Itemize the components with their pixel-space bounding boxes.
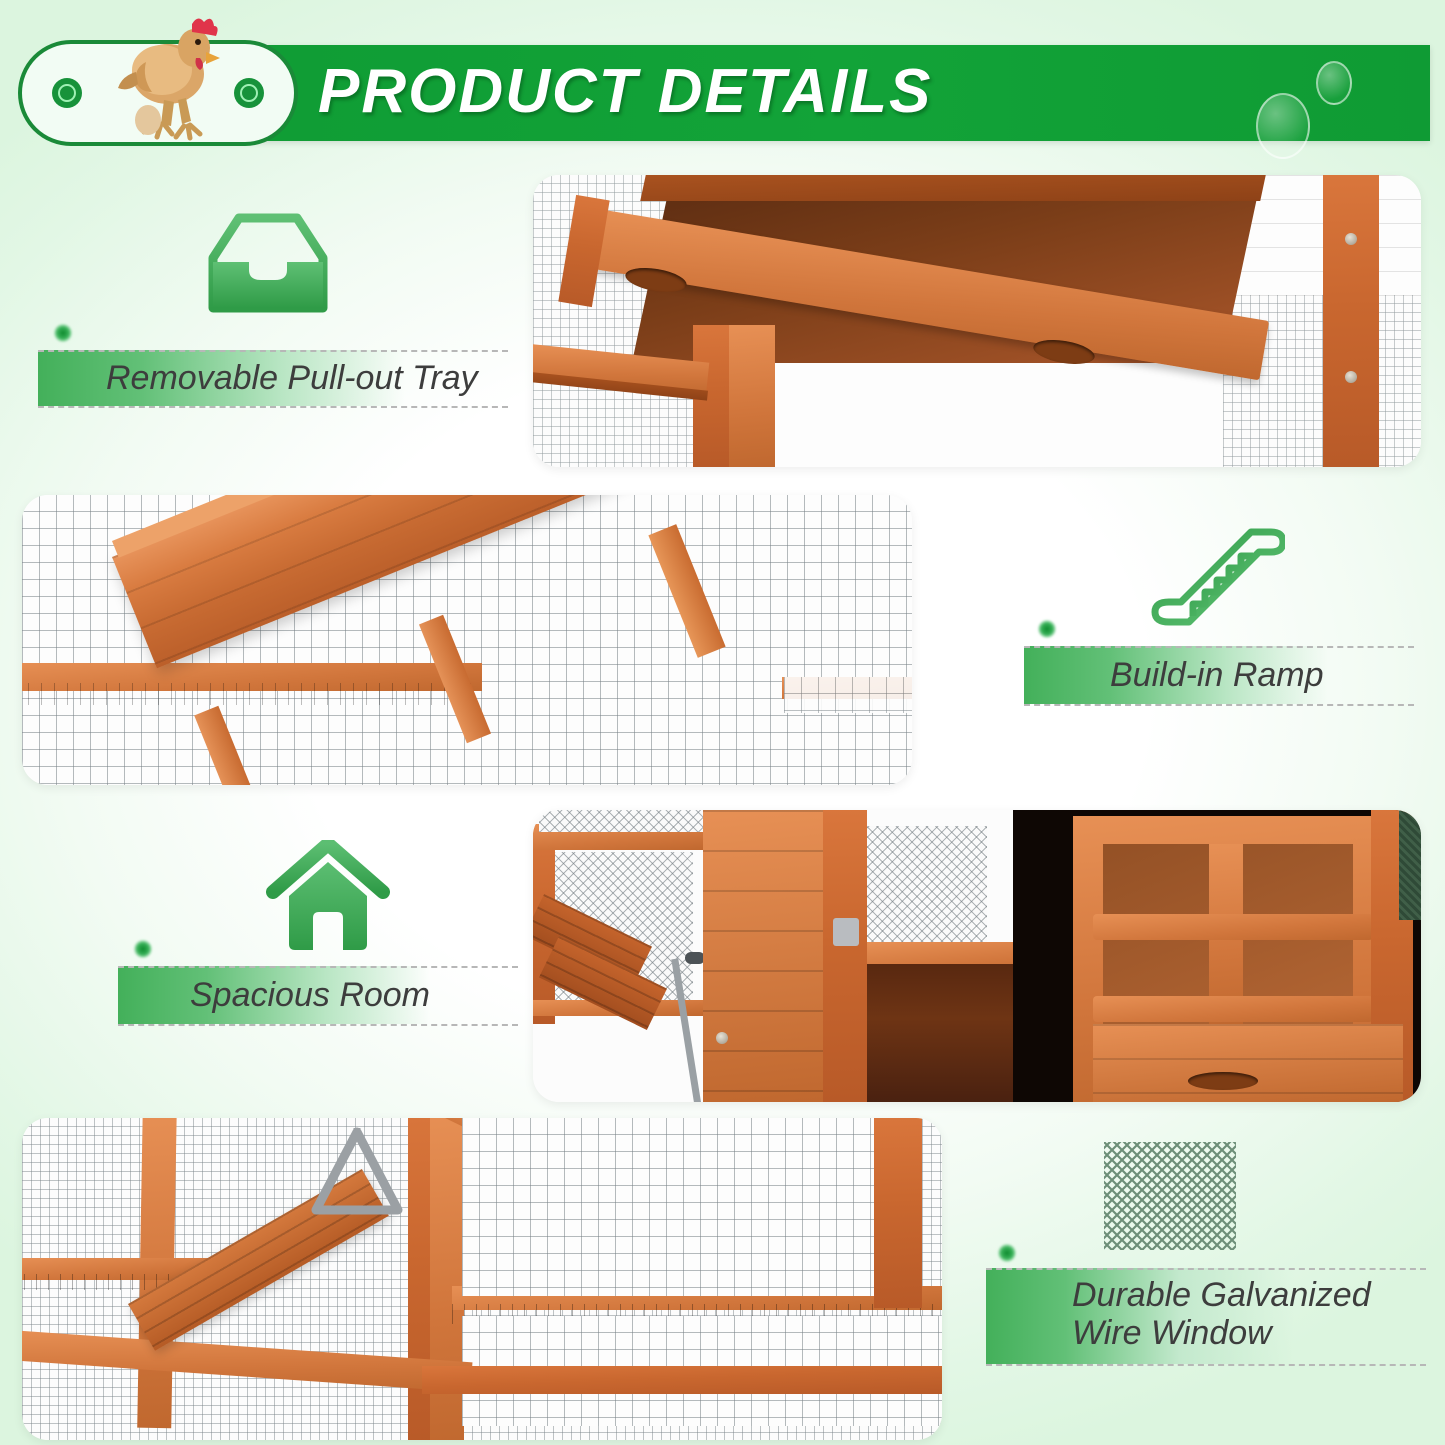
house-icon [263,840,393,956]
ramp-escalator-icon [1145,520,1285,632]
header-banner: PRODUCT DETAILS [18,40,1430,146]
hen-with-egg-icon [106,2,234,142]
feature-label: Spacious Room [190,976,430,1014]
feature-build-in-ramp: Build-in Ramp [1010,520,1420,730]
tray-icon [205,212,331,320]
photo-wire-run [22,1118,942,1440]
built-in-ramp-photo [22,495,912,785]
feature-label: Removable Pull-out Tray [106,359,478,397]
bullet-dot-icon [134,940,152,958]
photo-spacious-room [533,810,1421,1102]
wire-run-photo [22,1118,942,1440]
feature-label: Build-in Ramp [1110,656,1324,694]
bullet-dot-icon [54,324,72,342]
rivet-right-icon [234,78,264,108]
bullet-dot-icon [998,1244,1016,1262]
photo-built-in-ramp [22,495,912,785]
wire-mesh-icon [1102,1140,1238,1252]
feature-label: Durable Galvanized Wire Window [1072,1276,1371,1352]
spacious-room-photo [533,810,1421,1102]
bubble-decoration-small-icon [1316,61,1352,105]
rivet-left-icon [52,78,82,108]
feature-removable-pull-out-tray: Removable Pull-out Tray [28,212,508,412]
bullet-dot-icon [1038,620,1056,638]
feature-durable-galvanized-wire-window: Durable Galvanized Wire Window [968,1140,1428,1400]
metal-hook-icon [302,1126,412,1222]
photo-pull-out-tray [533,175,1421,467]
page-title: PRODUCT DETAILS [318,56,932,127]
feature-spacious-room: Spacious Room [118,840,538,1050]
pull-out-tray-photo [533,175,1421,467]
bubble-decoration-icon [1256,93,1310,159]
